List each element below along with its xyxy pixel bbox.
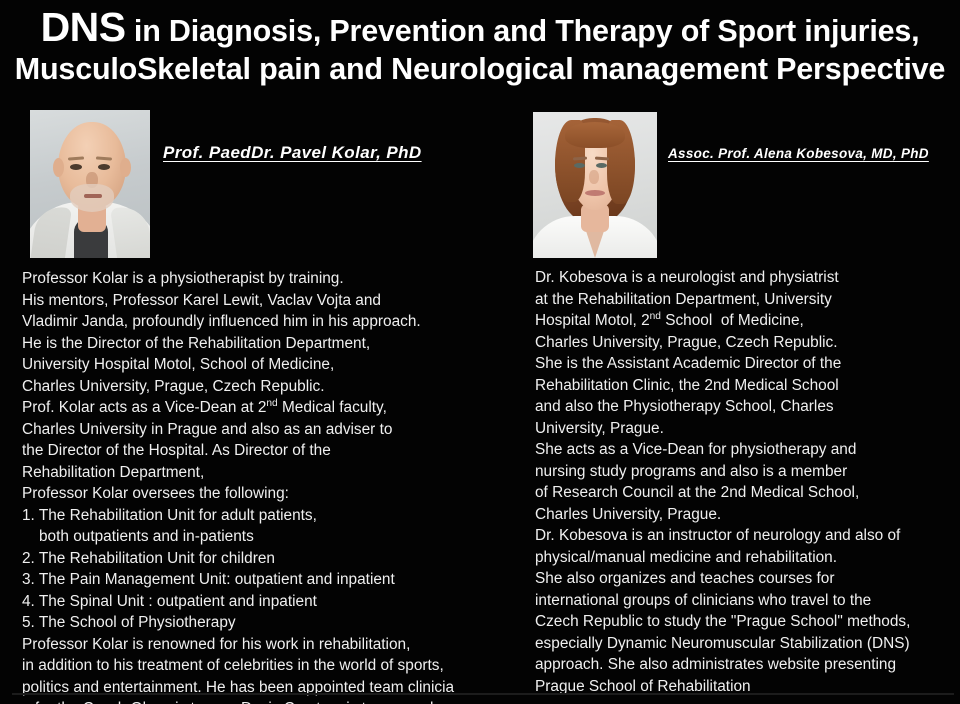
page-title: DNS in Diagnosis, Prevention and Therapy… <box>0 6 960 86</box>
left-eye-shape <box>574 163 585 168</box>
bio-line: the Director of the Hospital. As Directo… <box>22 440 477 462</box>
bio-line: She is the Assistant Academic Director o… <box>535 353 955 375</box>
bio-line: University, Prague. <box>535 418 955 440</box>
nose-shape <box>589 170 599 184</box>
bio-text-kolar: Professor Kolar is a physiotherapist by … <box>22 268 477 704</box>
portrait-photo-kolar <box>30 110 150 258</box>
title-line-1-rest: in Diagnosis, Prevention and Therapy of … <box>126 14 920 48</box>
portrait-photo-kobesova <box>533 112 657 258</box>
right-eye-shape <box>596 163 607 168</box>
mouth-shape <box>84 194 102 198</box>
bio-line: 1. The Rehabilitation Unit for adult pat… <box>22 505 477 527</box>
bio-line: Professor Kolar oversees the following: <box>22 483 477 505</box>
bio-line: nursing study programs and also is a mem… <box>535 461 955 483</box>
mouth-shape <box>585 190 605 196</box>
right-eye-shape <box>98 164 110 170</box>
name-label-kobesova: Assoc. Prof. Alena Kobesova, MD, PhD <box>668 146 929 161</box>
bio-line: University Hospital Motol, School of Med… <box>22 354 477 376</box>
bio-line: Professor Kolar is renowned for his work… <box>22 634 477 656</box>
bio-line: Dr. Kobesova is a neurologist and physia… <box>535 267 955 289</box>
bio-line: n for the Czech Olympic teams, Davis Cup… <box>22 698 477 704</box>
title-emphasis-dns: DNS <box>41 4 126 50</box>
bio-line: Hospital Motol, 2nd School of Medicine, <box>535 310 955 332</box>
bio-line: Czech Republic to study the "Prague Scho… <box>535 611 955 633</box>
bio-line: 2. The Rehabilitation Unit for children <box>22 548 477 570</box>
bio-line: Prof. Kolar acts as a Vice-Dean at 2nd M… <box>22 397 477 419</box>
left-eye-shape <box>70 164 82 170</box>
bio-line: 5. The School of Physiotherapy <box>22 612 477 634</box>
bio-line: Charles University in Prague and also as… <box>22 419 477 441</box>
bio-line: Charles University, Prague, Czech Republ… <box>22 376 477 398</box>
bottom-divider <box>12 693 954 695</box>
title-line-1: DNS in Diagnosis, Prevention and Therapy… <box>8 6 952 49</box>
bio-line: at the Rehabilitation Department, Univer… <box>535 289 955 311</box>
bio-line: Vladimir Janda, profoundly influenced hi… <box>22 311 477 333</box>
title-line-2: MusculoSkeletal pain and Neurological ma… <box>8 53 952 85</box>
bio-line: Charles University, Prague. <box>535 504 955 526</box>
bio-line: and also the Physiotherapy School, Charl… <box>535 396 955 418</box>
bio-line: Charles University, Prague, Czech Republ… <box>535 332 955 354</box>
bio-line: in addition to his treatment of celebrit… <box>22 655 477 677</box>
presentation-slide: DNS in Diagnosis, Prevention and Therapy… <box>0 0 960 704</box>
bio-line: Rehabilitation Clinic, the 2nd Medical S… <box>535 375 955 397</box>
bio-line: He is the Director of the Rehabilitation… <box>22 333 477 355</box>
name-label-kolar: Prof. PaedDr. Pavel Kolar, PhD <box>163 143 422 163</box>
left-ear-shape <box>53 158 64 177</box>
right-ear-shape <box>120 158 131 177</box>
bio-line: 3. The Pain Management Unit: outpatient … <box>22 569 477 591</box>
bio-line: Professor Kolar is a physiotherapist by … <box>22 268 477 290</box>
bio-line: Rehabilitation Department, <box>22 462 477 484</box>
bio-line: both outpatients and in-patients <box>22 526 477 548</box>
beard-shape <box>70 184 114 212</box>
bio-line: especially Dynamic Neuromuscular Stabili… <box>535 633 955 655</box>
bio-line: Dr. Kobesova is an instructor of neurolo… <box>535 525 955 547</box>
hair-fringe-shape <box>565 122 625 148</box>
bio-line: His mentors, Professor Karel Lewit, Vacl… <box>22 290 477 312</box>
portrait-kolar-art <box>30 110 150 258</box>
portrait-kobesova-art <box>533 112 657 258</box>
bio-text-kobesova: Dr. Kobesova is a neurologist and physia… <box>535 267 955 697</box>
bio-line: approach. She also administrates website… <box>535 654 955 676</box>
bio-line: of Research Council at the 2nd Medical S… <box>535 482 955 504</box>
bio-line: international groups of clinicians who t… <box>535 590 955 612</box>
bio-line: She also organizes and teaches courses f… <box>535 568 955 590</box>
bio-line: physical/manual medicine and rehabilitat… <box>535 547 955 569</box>
bio-line: 4. The Spinal Unit : outpatient and inpa… <box>22 591 477 613</box>
bio-line: She acts as a Vice-Dean for physiotherap… <box>535 439 955 461</box>
